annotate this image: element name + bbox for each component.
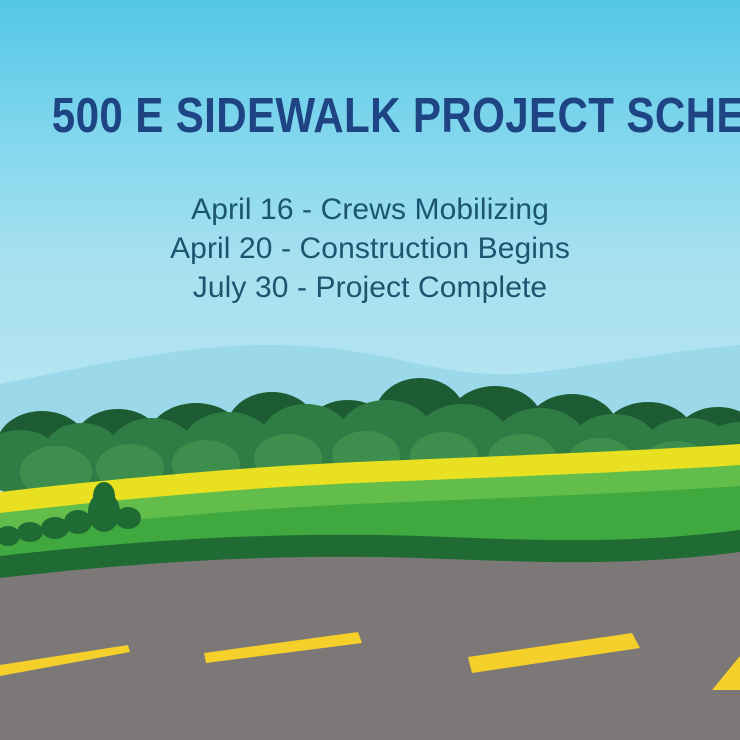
project-schedule-poster: 500 E Sidewalk Project Schedule April 16… — [0, 0, 740, 740]
roadway-illustration — [0, 0, 740, 740]
